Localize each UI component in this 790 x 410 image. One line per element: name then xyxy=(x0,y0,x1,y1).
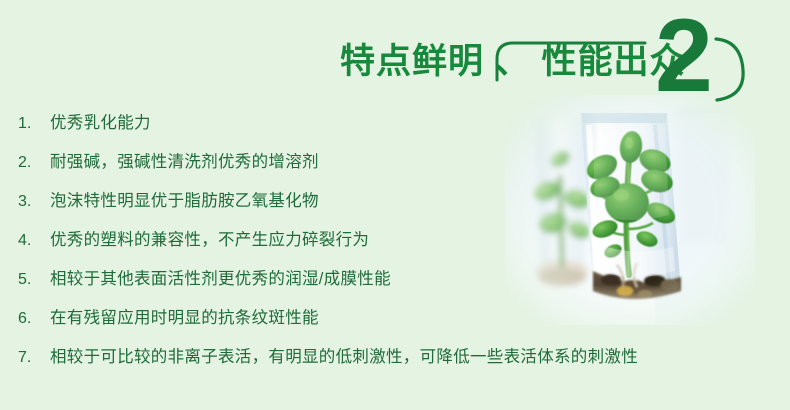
list-item-index: 5. xyxy=(18,260,50,299)
list-item: 1. 优秀乳化能力 xyxy=(18,104,778,143)
slide-canvas: 特点鲜明 、 性能出众 2 1. 优秀乳化能力 2. 耐强碱，强碱性清洗剂优秀的… xyxy=(0,0,790,410)
list-item-label: 优秀的塑料的兼容性，不产生应力碎裂行为 xyxy=(50,221,369,260)
slide-header: 特点鲜明 、 性能出众 2 xyxy=(335,8,785,112)
list-item: 2. 耐强碱，强碱性清洗剂优秀的增溶剂 xyxy=(18,143,778,182)
list-item-index: 4. xyxy=(18,221,50,260)
feature-list: 1. 优秀乳化能力 2. 耐强碱，强碱性清洗剂优秀的增溶剂 3. 泡沫特性明显优… xyxy=(18,104,778,377)
list-item-label: 相较于其他表面活性剂更优秀的润湿/成膜性能 xyxy=(50,260,391,299)
section-number: 2 xyxy=(655,4,710,108)
list-item-label: 泡沫特性明显优于脂肪胺乙氧基化物 xyxy=(50,182,319,221)
list-item: 7. 相较于可比较的非离子表活，有明显的低刺激性，可降低一些表活体系的刺激性 xyxy=(18,338,778,377)
list-item-index: 6. xyxy=(18,299,50,338)
list-item: 4. 优秀的塑料的兼容性，不产生应力碎裂行为 xyxy=(18,221,778,260)
list-item-label: 在有残留应用时明显的抗条纹斑性能 xyxy=(50,299,319,338)
list-item-label: 相较于可比较的非离子表活，有明显的低刺激性，可降低一些表活体系的刺激性 xyxy=(50,338,638,377)
page-title: 特点鲜明 、 性能出众 xyxy=(340,44,685,79)
list-item: 6. 在有残留应用时明显的抗条纹斑性能 xyxy=(18,299,778,338)
list-item-index: 7. xyxy=(18,338,50,377)
list-item-index: 1. xyxy=(18,104,50,143)
list-item: 5. 相较于其他表面活性剂更优秀的润湿/成膜性能 xyxy=(18,260,778,299)
list-item-index: 3. xyxy=(18,182,50,221)
list-item-label: 优秀乳化能力 xyxy=(50,104,151,143)
list-item: 3. 泡沫特性明显优于脂肪胺乙氧基化物 xyxy=(18,182,778,221)
list-item-label: 耐强碱，强碱性清洗剂优秀的增溶剂 xyxy=(50,143,319,182)
list-item-index: 2. xyxy=(18,143,50,182)
